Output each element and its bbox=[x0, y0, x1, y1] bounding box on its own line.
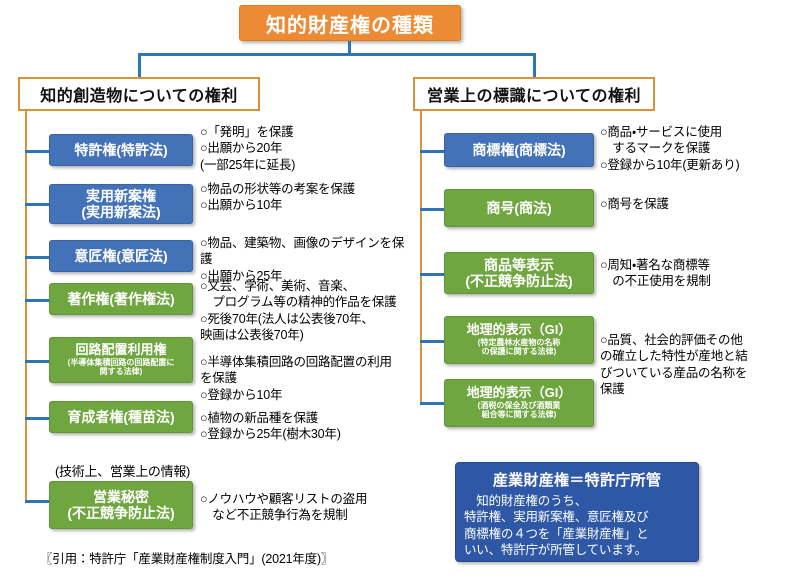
node-utility-model-right-label: 実用新案権 (実用新案法) bbox=[81, 188, 160, 220]
right-branch-connector-2 bbox=[420, 208, 444, 211]
category-header-left: 知的創造物についての権利 bbox=[18, 77, 260, 111]
node-trademark-right[interactable]: 商標権(商標法) bbox=[444, 133, 594, 167]
diagram-canvas: 知的財産権の種類 知的創造物についての権利 営業上の標識についての権利 特許権(… bbox=[0, 0, 794, 578]
description-trademark-right: ○商品・サービスに使用 するマークを保護 ○登録から10年(更新あり) bbox=[600, 124, 790, 173]
description-patent-right: ○「発明」を保護 ○出願から20年 (一部25年に延長) bbox=[200, 124, 400, 173]
trade-secret-note: (技術上、営業上の情報) bbox=[55, 461, 190, 480]
node-breeder-right-label: 育成者権(種苗法) bbox=[67, 409, 174, 425]
left-branch-connector-6 bbox=[25, 417, 49, 420]
node-trademark-right-label: 商標権(商標法) bbox=[472, 142, 565, 158]
node-circuit-layout-right-label: 回路配置利用権 bbox=[75, 343, 166, 358]
node-geographical-indication-agri-label: 地理的表示（GI） bbox=[467, 323, 572, 338]
node-copyright[interactable]: 著作権(著作権法) bbox=[49, 283, 193, 315]
title-spread-connector bbox=[138, 53, 536, 56]
left-branch-connector-3 bbox=[25, 256, 49, 259]
title-to-left-category-connector bbox=[138, 53, 141, 77]
right-spine bbox=[420, 111, 422, 403]
left-branch-connector-5 bbox=[25, 360, 49, 363]
right-branch-connector-4 bbox=[420, 340, 444, 343]
node-patent-right[interactable]: 特許権(特許法) bbox=[49, 134, 193, 166]
node-geographical-indication-agri[interactable]: 地理的表示（GI） (特定農林水産物の名称 の保護に関する法律) bbox=[444, 316, 594, 364]
node-copyright-label: 著作権(著作権法) bbox=[67, 291, 174, 307]
node-breeder-right[interactable]: 育成者権(種苗法) bbox=[49, 401, 193, 433]
node-geographical-indication-agri-sublabel: (特定農林水産物の名称 の保護に関する法律) bbox=[478, 339, 561, 357]
right-branch-connector-5 bbox=[420, 402, 444, 405]
node-trade-secret-label: 営業秘密 (不正競争防止法) bbox=[67, 489, 174, 521]
info-panel-title: 産業財産権＝特許庁所管 bbox=[464, 469, 690, 490]
node-circuit-layout-right[interactable]: 回路配置利用権 (半導体集積回路の回路配置に 関する法律) bbox=[49, 337, 193, 383]
description-utility-model-right: ○物品の形状等の考案を保護 ○出願から10年 bbox=[200, 181, 400, 214]
title-stem-connector bbox=[348, 41, 351, 53]
node-product-indication-label: 商品等表示 (不正競争防止法) bbox=[465, 257, 572, 289]
diagram-title: 知的財産権の種類 bbox=[239, 5, 461, 41]
node-trade-secret[interactable]: 営業秘密 (不正競争防止法) bbox=[49, 481, 193, 529]
description-geographical-indication: ○品質、社会的評価その他 の確立した特性が産地と結 びついている産品の名称を 保… bbox=[600, 332, 792, 397]
node-circuit-layout-right-sublabel: (半導体集積回路の回路配置に 関する法律) bbox=[68, 359, 175, 377]
category-header-right: 営業上の標識についての権利 bbox=[413, 77, 655, 111]
left-branch-connector-2 bbox=[25, 203, 49, 206]
description-breeder-right: ○植物の新品種を保護 ○登録から25年(樹木30年) bbox=[200, 410, 405, 443]
node-trade-name[interactable]: 商号(商法) bbox=[444, 189, 594, 227]
right-branch-connector-3 bbox=[420, 273, 444, 276]
node-product-indication[interactable]: 商品等表示 (不正競争防止法) bbox=[444, 252, 594, 294]
description-circuit-layout-right: ○半導体集積回路の回路配置の利用 を保護 ○登録から10年 bbox=[200, 354, 405, 403]
node-design-right[interactable]: 意匠権(意匠法) bbox=[49, 240, 193, 272]
description-design-right: ○物品、建築物、画像のデザインを保護 ○出願から25年 bbox=[200, 235, 410, 284]
node-design-right-label: 意匠権(意匠法) bbox=[74, 248, 167, 264]
node-patent-right-label: 特許権(特許法) bbox=[74, 142, 167, 158]
title-to-right-category-connector bbox=[533, 53, 536, 77]
node-geographical-indication-liquor-sublabel: (酒税の保全及び酒類業 組合等に関する法律) bbox=[478, 402, 561, 420]
info-panel-body: 知的財産権のうち、 特許権、実用新案権、意匠権及び 商標権の４つを「産業財産権」… bbox=[464, 493, 690, 558]
industrial-property-info-panel: 産業財産権＝特許庁所管 知的財産権のうち、 特許権、実用新案権、意匠権及び 商標… bbox=[455, 462, 699, 562]
left-spine bbox=[25, 111, 27, 501]
citation-text: 〖引用：特許庁「産業財産権制度入門」(2021年度)〗 bbox=[40, 548, 333, 567]
right-branch-connector-1 bbox=[420, 150, 444, 153]
node-utility-model-right[interactable]: 実用新案権 (実用新案法) bbox=[49, 184, 193, 224]
description-trade-name: ○商号を保護 bbox=[600, 196, 790, 212]
left-branch-connector-4 bbox=[25, 299, 49, 302]
left-branch-connector-7 bbox=[25, 500, 49, 503]
description-product-indication: ○周知・著名な商標等 の不正使用を規制 bbox=[600, 257, 790, 290]
node-geographical-indication-liquor-label: 地理的表示（GI） bbox=[467, 386, 572, 401]
node-trade-name-label: 商号(商法) bbox=[486, 200, 551, 216]
description-trade-secret: ○ノウハウや顧客リストの盗用 など不正競争行為を規制 bbox=[200, 491, 405, 524]
description-copyright: ○文芸、学術、美術、音楽、 プログラム等の精神的作品を保護 ○死後70年(法人は… bbox=[200, 278, 410, 343]
left-branch-connector-1 bbox=[25, 150, 49, 153]
node-geographical-indication-liquor[interactable]: 地理的表示（GI） (酒税の保全及び酒類業 組合等に関する法律) bbox=[444, 379, 594, 427]
